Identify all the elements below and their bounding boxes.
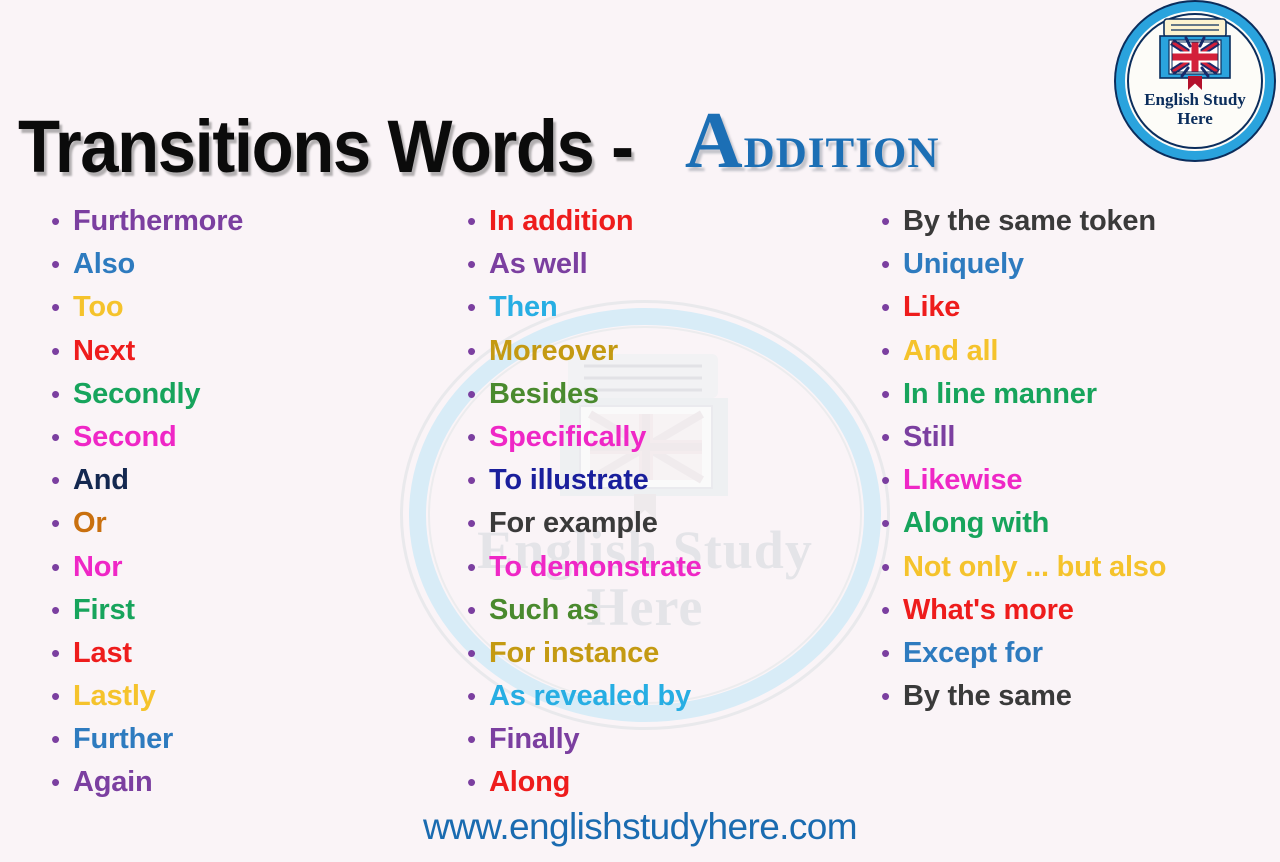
logo-text: English Study Here bbox=[1116, 90, 1274, 128]
bullet-icon: • bbox=[40, 200, 73, 243]
bullet-icon: • bbox=[40, 373, 73, 416]
word-label: By the same token bbox=[903, 200, 1156, 243]
word-label: Or bbox=[73, 502, 106, 545]
word-label: Along with bbox=[903, 502, 1049, 545]
word-label: Like bbox=[903, 286, 960, 329]
word-list-item: •For instance bbox=[456, 632, 866, 675]
word-list-item: •Except for bbox=[870, 632, 1270, 675]
footer-website-url[interactable]: www.englishstudyhere.com bbox=[0, 806, 1280, 848]
word-list-item: •As revealed by bbox=[456, 675, 866, 718]
word-list-item: •Nor bbox=[40, 546, 440, 589]
word-label: And all bbox=[903, 330, 998, 373]
word-list-item: •Finally bbox=[456, 718, 866, 761]
word-list-item: •Or bbox=[40, 502, 440, 545]
word-label: Likewise bbox=[903, 459, 1022, 502]
bullet-icon: • bbox=[456, 718, 489, 761]
bullet-icon: • bbox=[456, 502, 489, 545]
word-label: By the same bbox=[903, 675, 1072, 718]
bullet-icon: • bbox=[40, 632, 73, 675]
word-label: As revealed by bbox=[489, 675, 691, 718]
bullet-icon: • bbox=[870, 373, 903, 416]
word-label: To demonstrate bbox=[489, 546, 702, 589]
word-list-item: •Also bbox=[40, 243, 440, 286]
word-list-item: •In line manner bbox=[870, 373, 1270, 416]
word-label: Such as bbox=[489, 589, 599, 632]
book-with-uk-flag-icon bbox=[1156, 18, 1234, 90]
bullet-icon: • bbox=[870, 286, 903, 329]
word-label: First bbox=[73, 589, 135, 632]
word-list-item: •Last bbox=[40, 632, 440, 675]
word-label: Along bbox=[489, 761, 570, 804]
word-column-2: •In addition•As well•Then•Moreover•Besid… bbox=[456, 200, 866, 805]
word-label: Next bbox=[73, 330, 135, 373]
word-list-item: •Like bbox=[870, 286, 1270, 329]
word-columns: •Furthermore•Also•Too•Next•Secondly•Seco… bbox=[0, 200, 1280, 810]
word-label: Too bbox=[73, 286, 123, 329]
word-list-item: •Still bbox=[870, 416, 1270, 459]
word-list-item: •By the same token bbox=[870, 200, 1270, 243]
bullet-icon: • bbox=[456, 761, 489, 804]
bullet-icon: • bbox=[40, 330, 73, 373]
logo-text-line2: Here bbox=[1116, 109, 1274, 128]
word-list-item: •Furthermore bbox=[40, 200, 440, 243]
word-column-3: •By the same token•Uniquely•Like•And all… bbox=[870, 200, 1270, 718]
bullet-icon: • bbox=[40, 546, 73, 589]
logo-badge: English Study Here bbox=[1116, 2, 1274, 160]
word-label: Lastly bbox=[73, 675, 156, 718]
word-label: As well bbox=[489, 243, 588, 286]
word-label: In line manner bbox=[903, 373, 1097, 416]
word-label: Finally bbox=[489, 718, 579, 761]
bullet-icon: • bbox=[40, 675, 73, 718]
word-label: Furthermore bbox=[73, 200, 243, 243]
word-list-item: •As well bbox=[456, 243, 866, 286]
word-list-item: •Secondly bbox=[40, 373, 440, 416]
word-list-item: •And bbox=[40, 459, 440, 502]
word-list-item: •Lastly bbox=[40, 675, 440, 718]
word-label: Further bbox=[73, 718, 173, 761]
word-label: Also bbox=[73, 243, 135, 286]
word-label: Again bbox=[73, 761, 153, 804]
word-list-item: •Along bbox=[456, 761, 866, 804]
bullet-icon: • bbox=[456, 243, 489, 286]
word-list-item: •To demonstrate bbox=[456, 546, 866, 589]
word-list-item: •And all bbox=[870, 330, 1270, 373]
word-label: And bbox=[73, 459, 129, 502]
word-label: Second bbox=[73, 416, 177, 459]
word-label: In addition bbox=[489, 200, 633, 243]
word-label: Nor bbox=[73, 546, 122, 589]
bullet-icon: • bbox=[456, 200, 489, 243]
page-title-accent: Addition bbox=[685, 98, 940, 190]
word-list-item: •Further bbox=[40, 718, 440, 761]
bullet-icon: • bbox=[40, 761, 73, 804]
bullet-icon: • bbox=[456, 373, 489, 416]
word-list-item: •To illustrate bbox=[456, 459, 866, 502]
bullet-icon: • bbox=[456, 632, 489, 675]
bullet-icon: • bbox=[40, 589, 73, 632]
word-label: Still bbox=[903, 416, 955, 459]
word-list-item: •Again bbox=[40, 761, 440, 804]
page-title-accent-rest: ddition bbox=[744, 113, 940, 181]
word-list-item: •By the same bbox=[870, 675, 1270, 718]
word-label: For instance bbox=[489, 632, 659, 675]
word-label: For example bbox=[489, 502, 658, 545]
page-title: Transitions Words - Addition bbox=[18, 98, 1158, 194]
word-label: Moreover bbox=[489, 330, 618, 373]
bullet-icon: • bbox=[870, 330, 903, 373]
word-list-item: •In addition bbox=[456, 200, 866, 243]
logo-text-line1: English Study bbox=[1116, 90, 1274, 109]
bullet-icon: • bbox=[870, 243, 903, 286]
word-label: To illustrate bbox=[489, 459, 649, 502]
bullet-icon: • bbox=[40, 243, 73, 286]
word-list-item: •For example bbox=[456, 502, 866, 545]
word-list-item: •Such as bbox=[456, 589, 866, 632]
word-label: Not only ... but also bbox=[903, 546, 1166, 589]
bullet-icon: • bbox=[456, 675, 489, 718]
word-list-item: •Not only ... but also bbox=[870, 546, 1270, 589]
word-list-item: •Second bbox=[40, 416, 440, 459]
bullet-icon: • bbox=[870, 632, 903, 675]
word-label: Besides bbox=[489, 373, 599, 416]
bullet-icon: • bbox=[40, 502, 73, 545]
bullet-icon: • bbox=[870, 200, 903, 243]
word-label: Except for bbox=[903, 632, 1043, 675]
word-list-item: •Along with bbox=[870, 502, 1270, 545]
bullet-icon: • bbox=[870, 546, 903, 589]
word-label: Uniquely bbox=[903, 243, 1024, 286]
bullet-icon: • bbox=[870, 675, 903, 718]
word-label: Specifically bbox=[489, 416, 646, 459]
word-list-item: •Too bbox=[40, 286, 440, 329]
word-label: Secondly bbox=[73, 373, 200, 416]
word-label: What's more bbox=[903, 589, 1074, 632]
bullet-icon: • bbox=[870, 416, 903, 459]
word-list-item: •Besides bbox=[456, 373, 866, 416]
bullet-icon: • bbox=[456, 286, 489, 329]
bullet-icon: • bbox=[456, 330, 489, 373]
bullet-icon: • bbox=[456, 546, 489, 589]
word-list-item: •Uniquely bbox=[870, 243, 1270, 286]
bullet-icon: • bbox=[40, 416, 73, 459]
bullet-icon: • bbox=[870, 502, 903, 545]
bullet-icon: • bbox=[456, 589, 489, 632]
bullet-icon: • bbox=[40, 459, 73, 502]
bullet-icon: • bbox=[456, 416, 489, 459]
bullet-icon: • bbox=[456, 459, 489, 502]
word-column-1: •Furthermore•Also•Too•Next•Secondly•Seco… bbox=[40, 200, 440, 805]
word-list-item: •What's more bbox=[870, 589, 1270, 632]
page-title-main: Transitions Words - bbox=[18, 104, 633, 190]
word-list-item: •Specifically bbox=[456, 416, 866, 459]
bullet-icon: • bbox=[40, 286, 73, 329]
word-label: Last bbox=[73, 632, 132, 675]
bullet-icon: • bbox=[870, 459, 903, 502]
bullet-icon: • bbox=[870, 589, 903, 632]
page-title-accent-initial: A bbox=[685, 97, 744, 185]
word-list-item: •Moreover bbox=[456, 330, 866, 373]
bullet-icon: • bbox=[40, 718, 73, 761]
word-list-item: •Next bbox=[40, 330, 440, 373]
word-list-item: •Likewise bbox=[870, 459, 1270, 502]
word-list-item: •Then bbox=[456, 286, 866, 329]
word-list-item: •First bbox=[40, 589, 440, 632]
word-label: Then bbox=[489, 286, 557, 329]
